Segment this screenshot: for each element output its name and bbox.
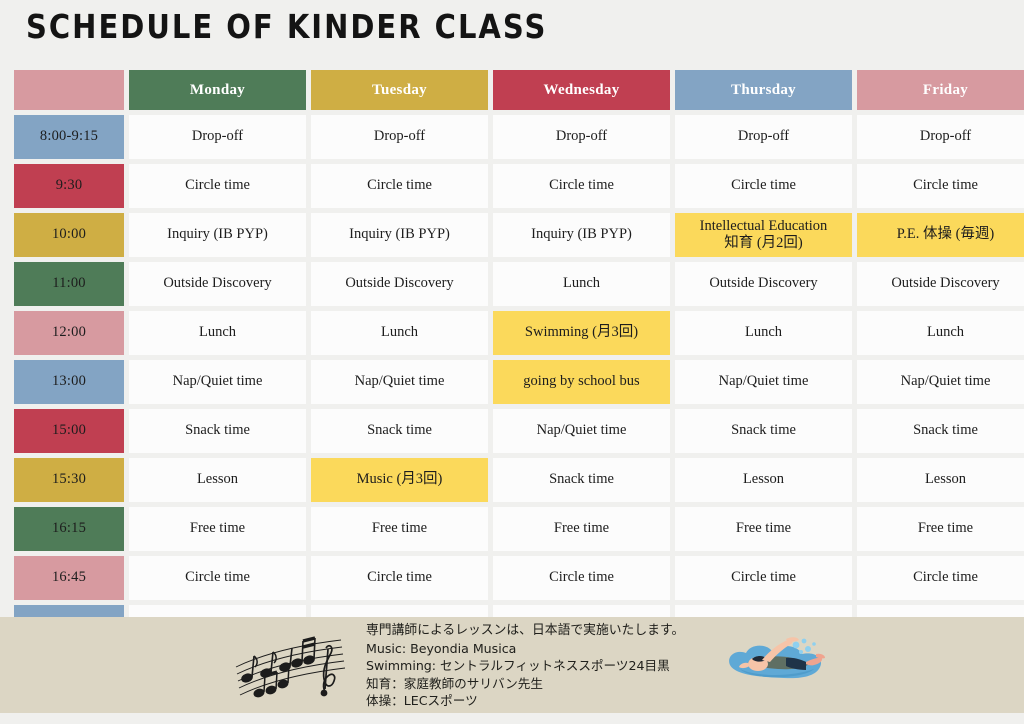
time-cell: 16:45 xyxy=(14,556,124,600)
schedule-cell-friday: Outside Discovery xyxy=(857,262,1024,306)
schedule-cell-wednesday: Lunch xyxy=(493,262,670,306)
schedule-cell-monday: Circle time xyxy=(129,556,306,600)
schedule-cell-wednesday: Nap/Quiet time xyxy=(493,409,670,453)
table-row: 10:00Inquiry (IB PYP)Inquiry (IB PYP)Inq… xyxy=(14,213,1024,257)
schedule-cell-tuesday: Nap/Quiet time xyxy=(311,360,488,404)
footer-note-music: Music: Beyondia Musica xyxy=(366,640,684,658)
time-cell: 16:15 xyxy=(14,507,124,551)
schedule-cell-monday: Snack time xyxy=(129,409,306,453)
schedule-cell-monday: Nap/Quiet time xyxy=(129,360,306,404)
time-cell: 12:00 xyxy=(14,311,124,355)
footer-note-intellectual: 知育：家庭教師のサリバン先生 xyxy=(366,675,684,693)
schedule-cell-tuesday: Free time xyxy=(311,507,488,551)
schedule-cell-friday: Snack time xyxy=(857,409,1024,453)
table-row: 16:45Circle timeCircle timeCircle timeCi… xyxy=(14,556,1024,600)
page-title: SCHEDULE OF KINDER CLASS xyxy=(26,8,547,46)
table-row: 11:00Outside DiscoveryOutside DiscoveryL… xyxy=(14,262,1024,306)
schedule-cell-monday: Outside Discovery xyxy=(129,262,306,306)
schedule-cell-thursday: Snack time xyxy=(675,409,852,453)
schedule-cell-tuesday: Snack time xyxy=(311,409,488,453)
column-header-wednesday: Wednesday xyxy=(493,70,670,110)
schedule-cell-monday: Inquiry (IB PYP) xyxy=(129,213,306,257)
schedule-cell-tuesday: Music (月3回) xyxy=(311,458,488,502)
schedule-cell-tuesday: Circle time xyxy=(311,164,488,208)
table-row: 8:00-9:15Drop-offDrop-offDrop-offDrop-of… xyxy=(14,115,1024,159)
music-notes-illustration xyxy=(233,627,345,706)
schedule-cell-friday: Lesson xyxy=(857,458,1024,502)
schedule-cell-tuesday: Drop-off xyxy=(311,115,488,159)
schedule-cell-friday: Free time xyxy=(857,507,1024,551)
time-cell: 15:30 xyxy=(14,458,124,502)
schedule-cell-monday: Drop-off xyxy=(129,115,306,159)
header-corner-blank xyxy=(14,70,124,110)
schedule-cell-friday: P.E. 体操 (毎週) xyxy=(857,213,1024,257)
schedule-cell-wednesday: Snack time xyxy=(493,458,670,502)
time-cell: 11:00 xyxy=(14,262,124,306)
schedule-cell-wednesday: Circle time xyxy=(493,556,670,600)
schedule-cell-monday: Lesson xyxy=(129,458,306,502)
schedule-cell-thursday: Drop-off xyxy=(675,115,852,159)
footer-note-pe: 体操：LECスポーツ xyxy=(366,692,684,710)
footer-notes: 専門講師によるレッスンは、日本語で実施いたします。 Music: Beyondi… xyxy=(366,622,684,710)
footer-heading: 専門講師によるレッスンは、日本語で実施いたします。 xyxy=(366,622,684,640)
schedule-cell-thursday: Lesson xyxy=(675,458,852,502)
schedule-cell-thursday: Intellectual Education知育 (月2回) xyxy=(675,213,852,257)
schedule-cell-tuesday: Outside Discovery xyxy=(311,262,488,306)
schedule-cell-wednesday: going by school bus xyxy=(493,360,670,404)
time-cell: 10:00 xyxy=(14,213,124,257)
time-cell: 15:00 xyxy=(14,409,124,453)
schedule-cell-thursday: Free time xyxy=(675,507,852,551)
schedule-cell-wednesday: Inquiry (IB PYP) xyxy=(493,213,670,257)
schedule-cell-friday: Circle time xyxy=(857,164,1024,208)
swimmer-illustration xyxy=(722,629,830,692)
table-row: 15:00Snack timeSnack timeNap/Quiet timeS… xyxy=(14,409,1024,453)
schedule-cell-thursday: Outside Discovery xyxy=(675,262,852,306)
schedule-cell-tuesday: Lunch xyxy=(311,311,488,355)
column-header-monday: Monday xyxy=(129,70,306,110)
schedule-cell-tuesday: Inquiry (IB PYP) xyxy=(311,213,488,257)
table-row: 15:30LessonMusic (月3回)Snack timeLessonLe… xyxy=(14,458,1024,502)
column-header-tuesday: Tuesday xyxy=(311,70,488,110)
table-row: 13:00Nap/Quiet timeNap/Quiet timegoing b… xyxy=(14,360,1024,404)
schedule-body: 8:00-9:15Drop-offDrop-offDrop-offDrop-of… xyxy=(14,115,1024,649)
time-cell: 9:30 xyxy=(14,164,124,208)
schedule-cell-friday: Drop-off xyxy=(857,115,1024,159)
table-row: 12:00LunchLunchSwimming (月3回)LunchLunch xyxy=(14,311,1024,355)
schedule-cell-wednesday: Swimming (月3回) xyxy=(493,311,670,355)
time-cell: 8:00-9:15 xyxy=(14,115,124,159)
time-cell: 13:00 xyxy=(14,360,124,404)
footer-note-swimming: Swimming: セントラルフィットネススポーツ24目黒 xyxy=(366,657,684,675)
table-row: 16:15Free timeFree timeFree timeFree tim… xyxy=(14,507,1024,551)
schedule-cell-thursday: Nap/Quiet time xyxy=(675,360,852,404)
column-header-friday: Friday xyxy=(857,70,1024,110)
schedule-cell-wednesday: Free time xyxy=(493,507,670,551)
table-row: 9:30Circle timeCircle timeCircle timeCir… xyxy=(14,164,1024,208)
schedule-cell-friday: Circle time xyxy=(857,556,1024,600)
schedule-cell-thursday: Circle time xyxy=(675,164,852,208)
schedule-table: Monday Tuesday Wednesday Thursday Friday… xyxy=(9,65,1024,654)
schedule-cell-thursday: Lunch xyxy=(675,311,852,355)
schedule-cell-monday: Free time xyxy=(129,507,306,551)
schedule-cell-wednesday: Drop-off xyxy=(493,115,670,159)
schedule-cell-monday: Circle time xyxy=(129,164,306,208)
schedule-cell-monday: Lunch xyxy=(129,311,306,355)
column-header-thursday: Thursday xyxy=(675,70,852,110)
schedule-cell-wednesday: Circle time xyxy=(493,164,670,208)
footer-band: 専門講師によるレッスンは、日本語で実施いたします。 Music: Beyondi… xyxy=(0,617,1024,713)
schedule-cell-friday: Nap/Quiet time xyxy=(857,360,1024,404)
table-header-row: Monday Tuesday Wednesday Thursday Friday xyxy=(14,70,1024,110)
schedule-cell-friday: Lunch xyxy=(857,311,1024,355)
schedule-cell-thursday: Circle time xyxy=(675,556,852,600)
schedule-cell-tuesday: Circle time xyxy=(311,556,488,600)
